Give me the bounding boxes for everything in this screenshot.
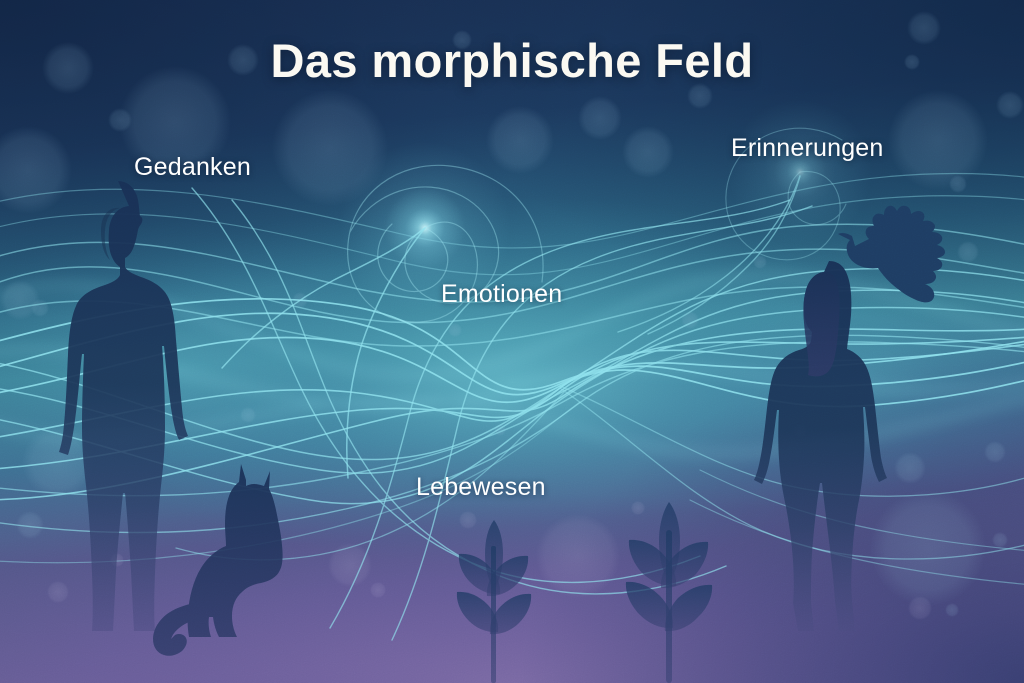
plant-sprig-silhouette xyxy=(457,520,531,683)
standing-man-silhouette xyxy=(59,181,188,631)
page-title: Das morphische Feld xyxy=(0,33,1024,88)
plant-sprig-silhouette xyxy=(626,502,712,683)
sitting-cat-silhouette xyxy=(153,464,283,656)
standing-woman-silhouette xyxy=(754,261,887,631)
silhouette-layer xyxy=(0,0,1024,683)
morphic-field-illustration: Das morphische Feld Gedanken Erinnerunge… xyxy=(0,0,1024,683)
flying-bird-silhouette xyxy=(838,206,945,303)
